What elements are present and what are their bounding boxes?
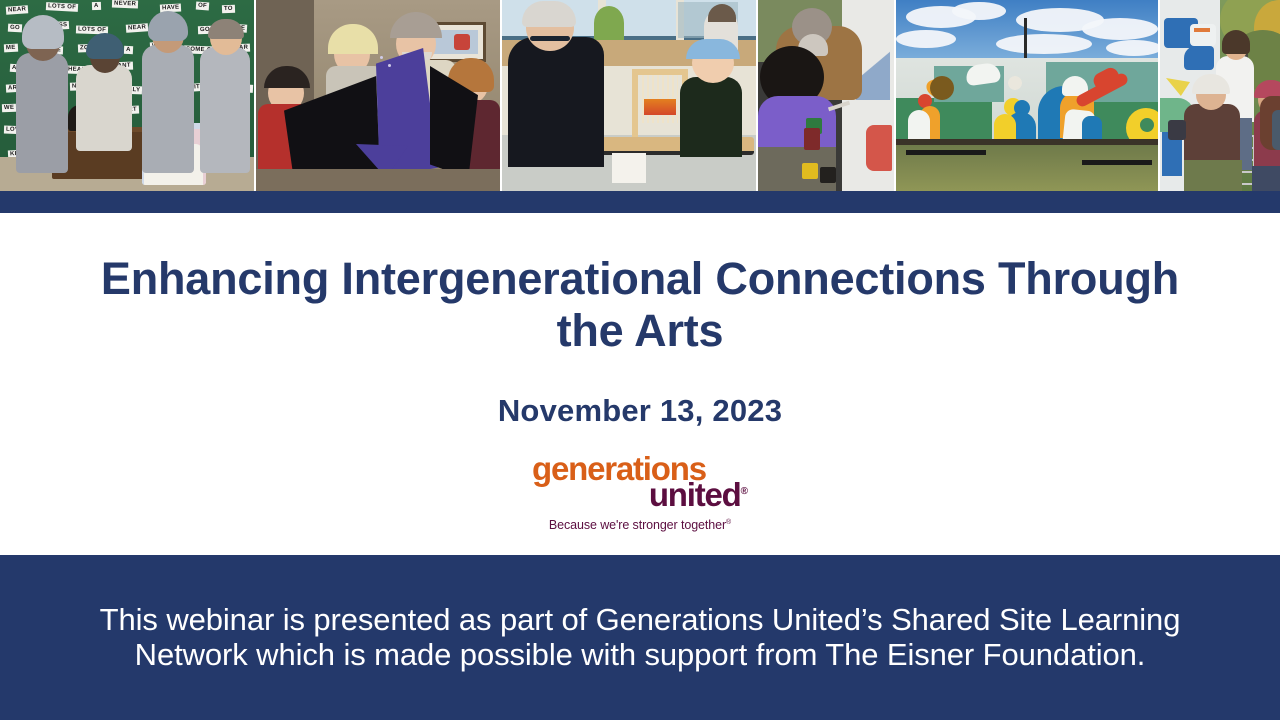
photo-finished-mural-scene [896, 0, 1158, 191]
photo-volunteers-painting [1160, 0, 1280, 191]
photo-loom-boy-cap [686, 39, 740, 59]
photo-sewing-group-scene: NEAR LOTS OF A NEVER HAVE OF TO GO KINDN… [0, 0, 254, 191]
photo-volunteer-front [1184, 104, 1240, 166]
photo-finished-mural [896, 0, 1158, 191]
logo-tagline: Because we're stronger together® [530, 518, 750, 532]
photo-loom-weaving [502, 0, 756, 191]
paint-can-dark [820, 167, 836, 183]
logo-word-united-text: united [649, 476, 741, 513]
photo-loom-man [508, 37, 604, 167]
generations-united-logo: generations united® Because we're strong… [530, 455, 750, 532]
photo-kite-group-scene [256, 0, 500, 191]
header-accent-bar [0, 191, 1280, 213]
logo-registered-mark: ® [741, 486, 748, 497]
logo-tagline-mark: ® [726, 518, 731, 525]
paint-can-maroon [804, 128, 820, 150]
photo-mural-wall-red-shape [866, 125, 892, 171]
photo-mural-painted-wall [896, 58, 1158, 146]
paint-can-yellow [802, 163, 818, 179]
footer-note: This webinar is presented as part of Gen… [90, 603, 1190, 672]
photo-loom-boy [680, 77, 742, 157]
photo-loom-weaving-scene [502, 0, 756, 191]
photo-mural-painting-scene [758, 0, 894, 191]
photo-sewing-group: NEAR LOTS OF A NEVER HAVE OF TO GO KINDN… [0, 0, 254, 191]
webinar-date: November 13, 2023 [498, 393, 782, 429]
slide-body: Enhancing Intergenerational Connections … [0, 213, 1280, 555]
logo-tagline-text: Because we're stronger together [549, 518, 726, 532]
photo-mural-painting-closeup [758, 0, 894, 191]
page-title: Enhancing Intergenerational Connections … [80, 253, 1200, 357]
photo-strip: NEAR LOTS OF A NEVER HAVE OF TO GO KINDN… [0, 0, 1280, 191]
photo-loom-man-hair [522, 1, 576, 27]
photo-volunteers-painting-scene [1160, 0, 1280, 191]
footer-banner: This webinar is presented as part of Gen… [0, 555, 1280, 720]
photo-kite-object [284, 48, 474, 178]
photo-kite-group [256, 0, 500, 191]
